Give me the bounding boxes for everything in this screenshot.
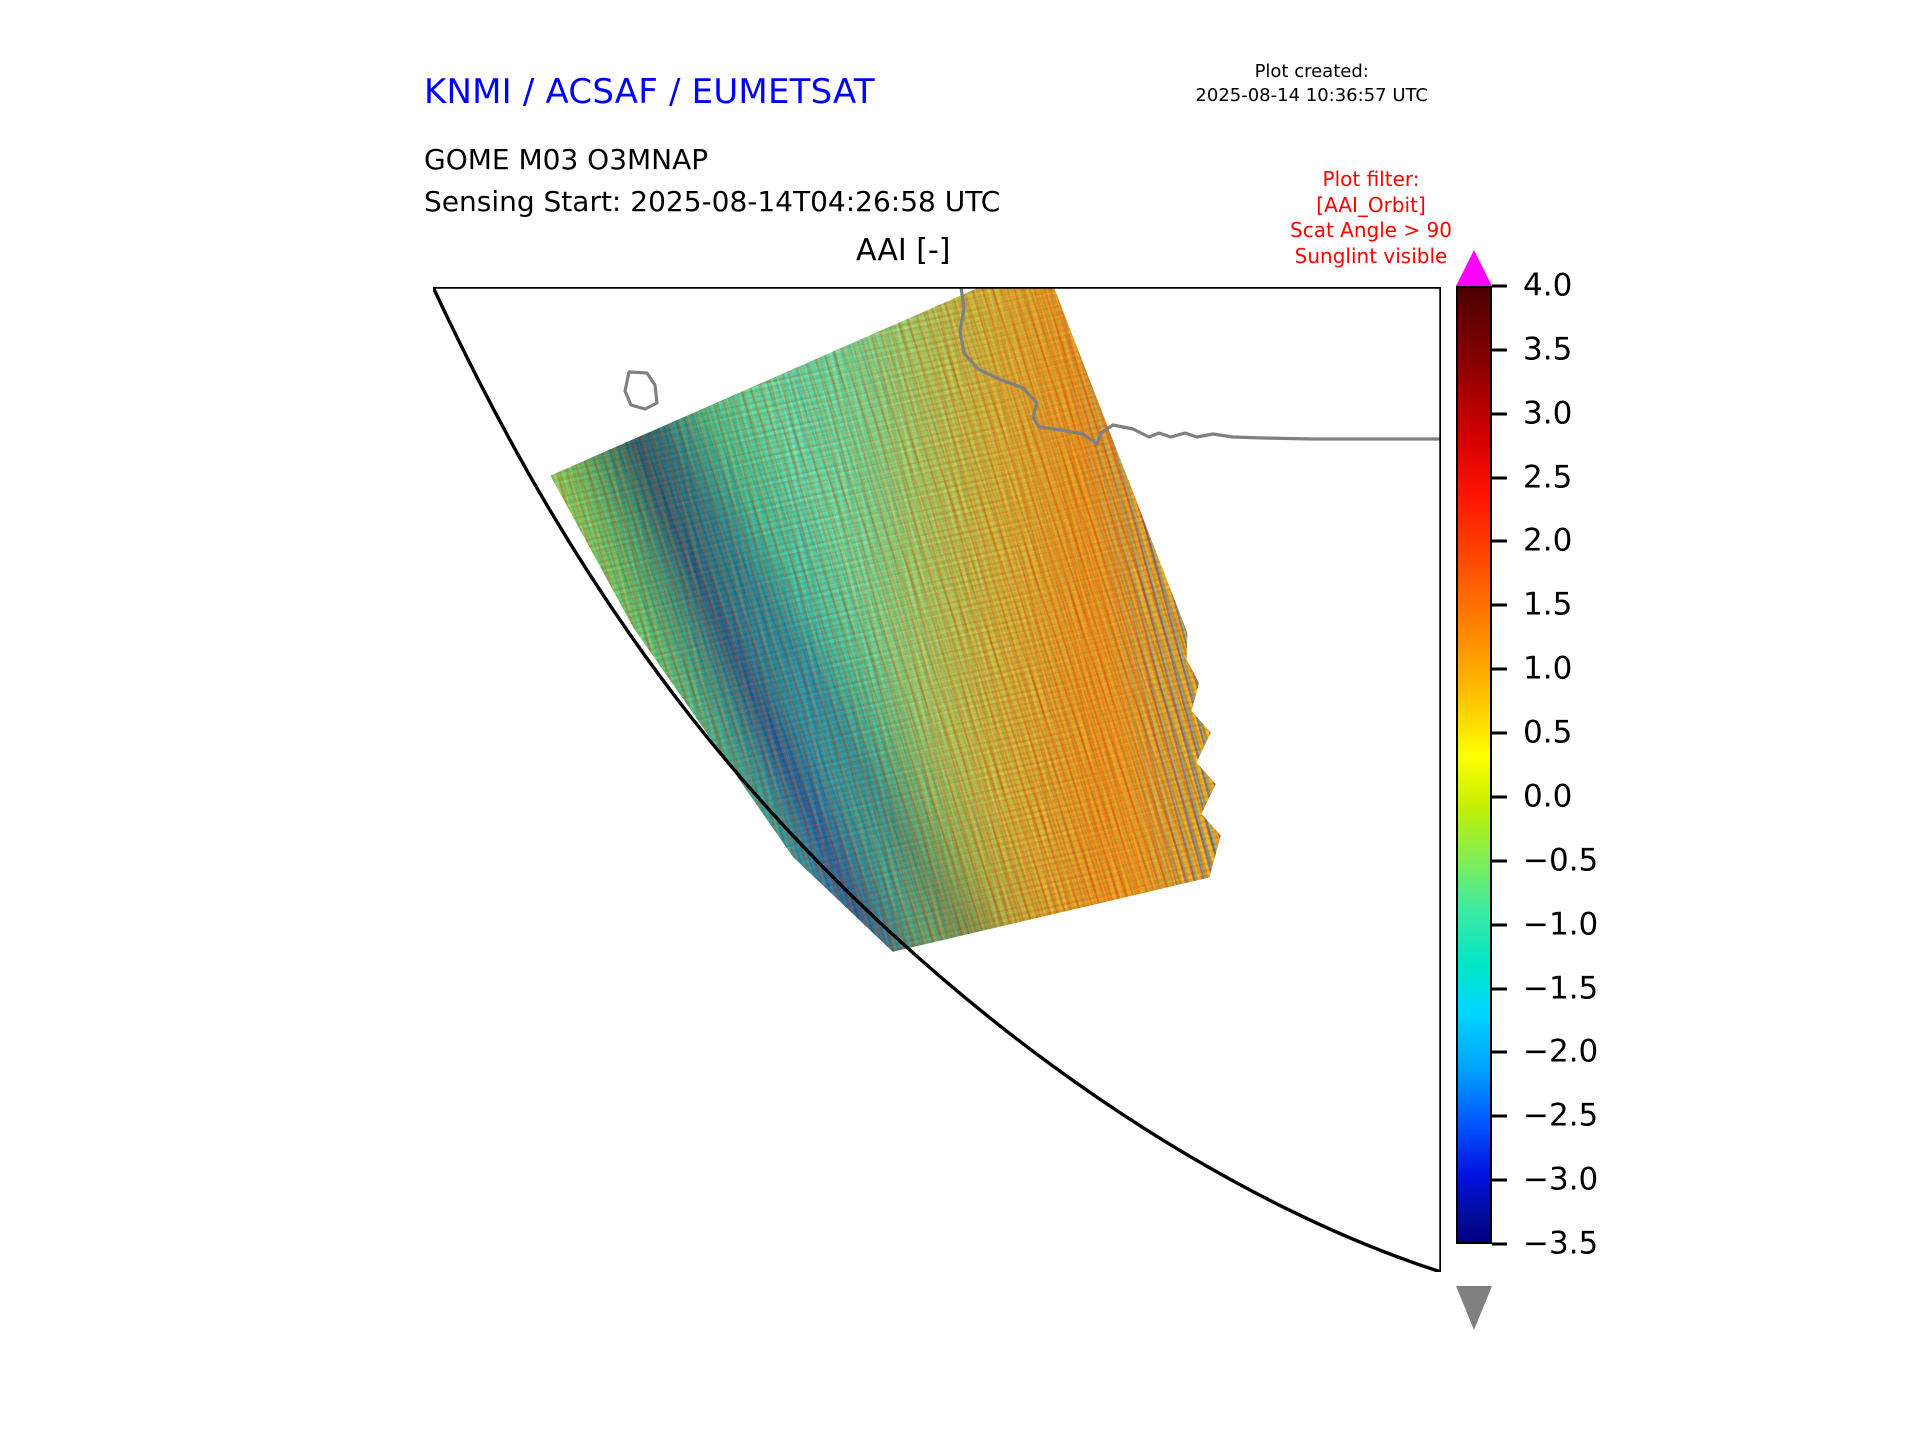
plot-created-label: Plot created:	[1195, 60, 1428, 84]
colorbar-tick-value: −1.0	[1523, 909, 1598, 940]
plot-filter-scat-angle: Scat Angle > 90	[1290, 218, 1452, 244]
colorbar-tick-mark	[1492, 668, 1507, 671]
colorbar-tick: −2.0	[1492, 1037, 1598, 1068]
colorbar-tick-value: 2.5	[1523, 462, 1572, 493]
colorbar-tick-value: −2.5	[1523, 1101, 1598, 1132]
colorbar-tick: 3.0	[1492, 398, 1572, 429]
colorbar-tick-mark	[1492, 285, 1507, 288]
variable-label: AAI [-]	[856, 233, 951, 268]
colorbar-tick-value: 0.0	[1523, 781, 1572, 812]
colorbar-over-arrow	[1456, 250, 1492, 286]
colorbar-tick: 2.0	[1492, 526, 1572, 557]
colorbar-tick: 1.5	[1492, 590, 1572, 621]
organisation-title: KNMI / ACSAF / EUMETSAT	[424, 72, 875, 112]
colorbar-tick-value: −3.0	[1523, 1165, 1598, 1196]
colorbar-tick-mark	[1492, 1243, 1507, 1246]
colorbar-gradient	[1456, 286, 1492, 1244]
coastline-layer	[625, 287, 1441, 444]
dataset-title: GOME M03 O3MNAP	[424, 143, 708, 176]
colorbar-tick: 4.0	[1492, 271, 1572, 302]
colorbar-tick-mark	[1492, 732, 1507, 735]
colorbar-tick-mark	[1492, 923, 1507, 926]
plot-filter-sunglint: Sunglint visible	[1290, 244, 1452, 270]
plot-filter-name: [AAI_Orbit]	[1290, 193, 1452, 219]
colorbar-tick-value: 3.5	[1523, 334, 1572, 365]
colorbar-tick-value: 1.0	[1523, 654, 1572, 685]
colorbar-tick-mark	[1492, 1115, 1507, 1118]
colorbar-tick-value: 2.0	[1523, 526, 1572, 557]
colorbar-tick-value: −0.5	[1523, 845, 1598, 876]
colorbar-tick: −1.5	[1492, 973, 1598, 1004]
colorbar-tick-mark	[1492, 540, 1507, 543]
colorbar-tick-value: −3.5	[1523, 1229, 1598, 1260]
coastline-main	[960, 287, 1441, 444]
colorbar-tick-value: 4.0	[1523, 271, 1572, 302]
colorbar-tick-mark	[1492, 987, 1507, 990]
colorbar-tick-mark	[1492, 604, 1507, 607]
colorbar-tick-mark	[1492, 412, 1507, 415]
colorbar-tick: 3.5	[1492, 334, 1572, 365]
colorbar-tick: 2.5	[1492, 462, 1572, 493]
colorbar-tick: −1.0	[1492, 909, 1598, 940]
colorbar-tick-mark	[1492, 859, 1507, 862]
map-panel	[433, 287, 1441, 1272]
colorbar-tick: −3.5	[1492, 1229, 1598, 1260]
colorbar-tick-labels: 4.03.53.02.52.01.51.00.50.0−0.5−1.0−1.5−…	[1492, 286, 1682, 1244]
colorbar-tick: 1.0	[1492, 654, 1572, 685]
colorbar-tick-value: 0.5	[1523, 718, 1572, 749]
colorbar-tick: −0.5	[1492, 845, 1598, 876]
colorbar-tick: 0.5	[1492, 718, 1572, 749]
colorbar-under-arrow	[1456, 1286, 1492, 1330]
colorbar-tick-mark	[1492, 348, 1507, 351]
plot-filter-block: Plot filter: [AAI_Orbit] Scat Angle > 90…	[1290, 167, 1452, 269]
plot-filter-label: Plot filter:	[1290, 167, 1452, 193]
colorbar-tick-mark	[1492, 1179, 1507, 1182]
plot-created-block: Plot created: 2025-08-14 10:36:57 UTC	[1195, 60, 1428, 109]
colorbar-tick-mark	[1492, 1051, 1507, 1054]
colorbar-tick-value: 1.5	[1523, 590, 1572, 621]
colorbar-tick-value: −1.5	[1523, 973, 1598, 1004]
map-boundary	[433, 287, 1441, 1272]
colorbar-tick: −2.5	[1492, 1101, 1598, 1132]
plot-canvas: KNMI / ACSAF / EUMETSAT GOME M03 O3MNAP …	[0, 0, 1920, 1440]
sensing-start-label: Sensing Start: 2025-08-14T04:26:58 UTC	[424, 185, 1000, 218]
colorbar: 4.03.53.02.52.01.51.00.50.0−0.5−1.0−1.5−…	[1456, 286, 1686, 1286]
colorbar-tick: −3.0	[1492, 1165, 1598, 1196]
coastline-island	[625, 372, 657, 409]
colorbar-tick-value: 3.0	[1523, 398, 1572, 429]
map-frame	[433, 287, 1441, 1272]
colorbar-tick-mark	[1492, 476, 1507, 479]
plot-created-timestamp: 2025-08-14 10:36:57 UTC	[1195, 84, 1428, 108]
colorbar-tick-mark	[1492, 795, 1507, 798]
colorbar-tick: 0.0	[1492, 781, 1572, 812]
colorbar-tick-value: −2.0	[1523, 1037, 1598, 1068]
